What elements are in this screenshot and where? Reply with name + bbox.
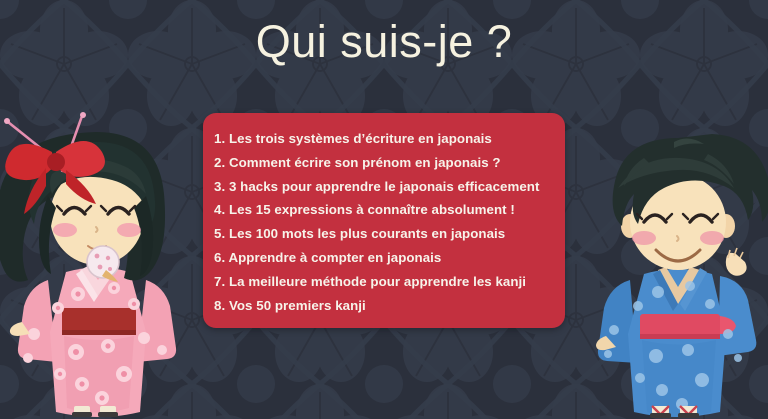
agenda-item: 1. Les trois systèmes d’écriture en japo… <box>214 127 565 151</box>
slide-canvas: Qui suis-je ? 1. Les trois systèmes d’éc… <box>0 0 768 419</box>
agenda-item-label: Les trois systèmes d’écriture en japonai… <box>229 131 492 146</box>
agenda-item-number: 7. <box>214 274 225 289</box>
agenda-item-label: Comment écrire son prénom en japonais ? <box>229 155 501 170</box>
agenda-item: 8. Vos 50 premiers kanji <box>214 294 565 318</box>
agenda-item-label: Les 15 expressions à connaître absolumen… <box>229 202 515 217</box>
agenda-item-label: La meilleure méthode pour apprendre les … <box>229 274 526 289</box>
agenda-item-label: 3 hacks pour apprendre le japonais effic… <box>229 179 540 194</box>
agenda-item-number: 2. <box>214 155 225 170</box>
agenda-item-number: 6. <box>214 250 225 265</box>
slide-title: Qui suis-je ? <box>0 18 768 65</box>
agenda-item: 6. Apprendre à compter en japonais <box>214 246 565 270</box>
agenda-item-number: 3. <box>214 179 225 194</box>
agenda-item-number: 8. <box>214 298 225 313</box>
chibi-boy-character <box>578 128 768 419</box>
chibi-girl-character <box>0 112 201 419</box>
agenda-item-label: Apprendre à compter en japonais <box>228 250 441 265</box>
agenda-item: 4. Les 15 expressions à connaître absolu… <box>214 198 565 222</box>
girl-kimono <box>10 266 176 417</box>
boy-head <box>613 134 768 270</box>
agenda-item-label: Les 100 mots les plus courants en japona… <box>229 226 505 241</box>
agenda-item: 3. 3 hacks pour apprendre le japonais ef… <box>214 175 565 199</box>
boy-yukata <box>596 248 756 417</box>
agenda-item: 5. Les 100 mots les plus courants en jap… <box>214 222 565 246</box>
agenda-item: 7. La meilleure méthode pour apprendre l… <box>214 270 565 294</box>
agenda-item: 2. Comment écrire son prénom en japonais… <box>214 151 565 175</box>
agenda-item-label: Vos 50 premiers kanji <box>229 298 366 313</box>
agenda-item-number: 1. <box>214 131 225 146</box>
agenda-list: 1. Les trois systèmes d’écriture en japo… <box>214 127 565 317</box>
agenda-card: 1. Les trois systèmes d’écriture en japo… <box>203 113 565 328</box>
agenda-item-number: 5. <box>214 226 225 241</box>
agenda-item-number: 4. <box>214 202 225 217</box>
